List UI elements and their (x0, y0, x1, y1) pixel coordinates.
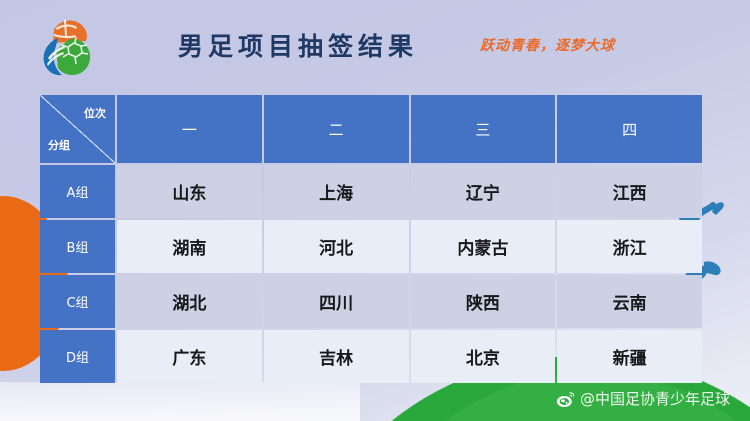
cell-a-1: 山东 (117, 165, 262, 218)
slogan-text: 跃动青春，逐梦大球 (480, 35, 615, 55)
column-header-4: 四 (557, 95, 702, 163)
cell-a-3: 辽宁 (411, 165, 556, 218)
cell-b-3: 内蒙古 (411, 220, 556, 273)
group-label-a: A组 (40, 165, 115, 218)
cell-c-1: 湖北 (117, 275, 262, 328)
position-axis-label: 位次 (84, 105, 106, 121)
cell-d-4: 新疆 (557, 330, 702, 383)
weibo-watermark: @中国足协青少年足球 (556, 388, 730, 409)
group-label-b: B组 (40, 220, 115, 273)
cell-d-2: 吉林 (264, 330, 409, 383)
table-header-row: 位次 分组 一 二 三 四 (40, 95, 702, 163)
table-row: C组 湖北 四川 陕西 云南 (40, 275, 702, 328)
group-label-c: C组 (40, 275, 115, 328)
cell-d-1: 广东 (117, 330, 262, 383)
cell-c-2: 四川 (264, 275, 409, 328)
table-corner-header: 位次 分组 (40, 95, 115, 163)
weibo-handle: @中国足协青少年足球 (580, 388, 730, 409)
draw-result-table: 位次 分组 一 二 三 四 A组 山东 上海 辽宁 江西 B组 湖南 河北 内 (38, 93, 704, 385)
cell-c-3: 陕西 (411, 275, 556, 328)
table-row: D组 广东 吉林 北京 新疆 (40, 330, 702, 383)
white-fade-decoration (0, 382, 360, 421)
group-label-d: D组 (40, 330, 115, 383)
page-title: 男足项目抽签结果 (178, 27, 418, 63)
group-axis-label: 分组 (48, 137, 70, 153)
cell-b-1: 湖南 (117, 220, 262, 273)
weibo-icon (556, 389, 576, 409)
slide-canvas: 男足项目抽签结果 跃动青春，逐梦大球 位次 分组 一 二 三 四 A组 山东 上… (0, 0, 750, 421)
cell-c-4: 云南 (557, 275, 702, 328)
cell-a-2: 上海 (264, 165, 409, 218)
cell-a-4: 江西 (557, 165, 702, 218)
table-row: B组 湖南 河北 内蒙古 浙江 (40, 220, 702, 273)
column-header-3: 三 (411, 95, 556, 163)
cell-b-4: 浙江 (557, 220, 702, 273)
column-header-1: 一 (117, 95, 262, 163)
cell-d-3: 北京 (411, 330, 556, 383)
column-header-2: 二 (264, 95, 409, 163)
slide-header: 男足项目抽签结果 跃动青春，逐梦大球 (0, 0, 750, 90)
cell-b-2: 河北 (264, 220, 409, 273)
cfa-youth-sports-logo-icon (36, 14, 96, 76)
table-row: A组 山东 上海 辽宁 江西 (40, 165, 702, 218)
